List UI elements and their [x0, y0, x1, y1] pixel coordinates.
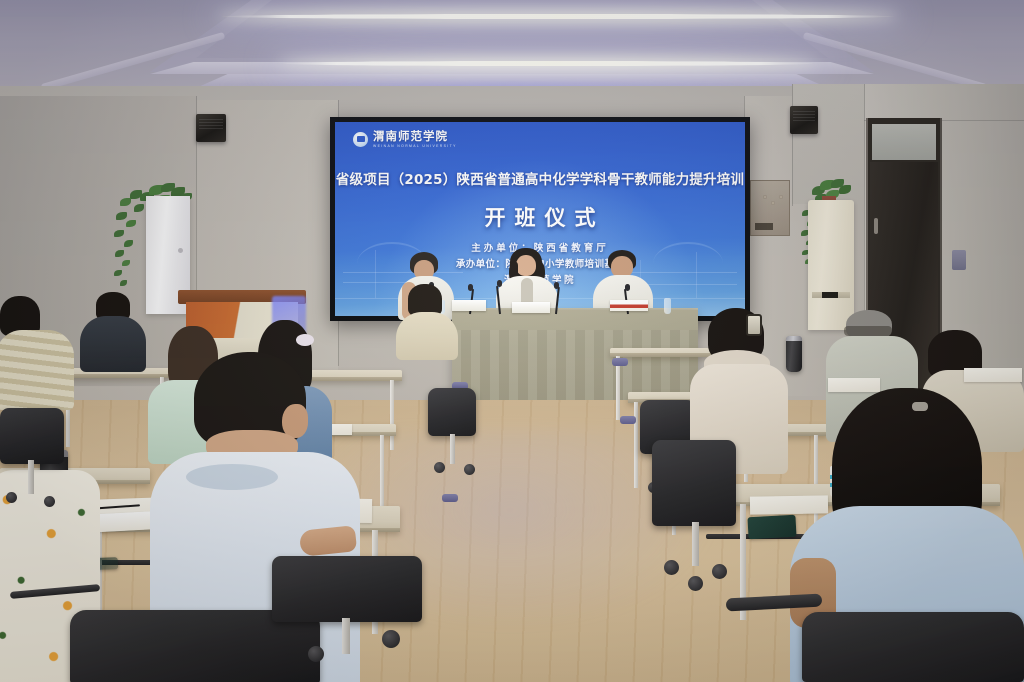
wall-seam [792, 84, 793, 206]
door-transom-window [872, 124, 936, 160]
microphone-center [492, 280, 508, 314]
hair-scrunchie [296, 334, 314, 346]
name-card-center [512, 302, 550, 313]
chair-tablet-arm [620, 416, 636, 424]
name-card-right [610, 300, 648, 311]
paper-sheet-right-mid [964, 368, 1022, 382]
wall-switch[interactable] [952, 250, 966, 270]
ceiling-recess-inner [196, 0, 828, 58]
chair-left-back [428, 388, 480, 478]
ac-display-panel[interactable] [822, 292, 838, 298]
led-strip-front-light [222, 14, 894, 19]
wall-speaker-right-icon [790, 106, 818, 134]
wall-speaker-left-icon [196, 114, 226, 142]
chair-tablet-arm [612, 358, 628, 366]
wall-control-panel[interactable] [750, 180, 790, 236]
conference-room-photo: 渭南师范学院 WEINAN NORMAL UNIVERSITY 省级项目（202… [0, 0, 1024, 682]
attendee-dark-shirt [80, 292, 146, 370]
desk-leg [634, 402, 638, 488]
eyeglasses-icon [844, 326, 892, 336]
chair-right-mid[interactable] [652, 440, 742, 590]
university-logo-name-en: WEINAN NORMAL UNIVERSITY [373, 145, 457, 148]
microphone-center-2 [548, 282, 564, 314]
cabinet-knob[interactable] [178, 248, 183, 253]
chair-center-front[interactable] [272, 556, 432, 666]
university-logo-name-cn: 渭南师范学院 [373, 131, 457, 143]
chair-tablet-arm [442, 494, 458, 502]
thermos-flask-right [786, 336, 802, 372]
door-handle[interactable] [874, 218, 878, 234]
chair-front-right[interactable] [802, 612, 1024, 682]
attendee-striped-knit [0, 296, 74, 406]
led-strip-rear-light [283, 61, 813, 66]
attendee-beige-blouse [396, 284, 458, 354]
shirt-collar [186, 464, 278, 490]
university-logo: 渭南师范学院 WEINAN NORMAL UNIVERSITY [353, 131, 457, 148]
desk-leg [390, 380, 394, 450]
slide-project-title: 省级项目（2025）陕西省普通高中化学学科骨干教师能力提升培训 [335, 168, 745, 188]
water-bottle-head-table [664, 298, 671, 314]
hair-tie [912, 402, 928, 411]
slide-headline: 开班仪式 [335, 202, 745, 232]
university-logo-mark-icon [353, 132, 368, 147]
hair-clip [746, 314, 762, 336]
chair-left-mid[interactable] [0, 408, 70, 518]
